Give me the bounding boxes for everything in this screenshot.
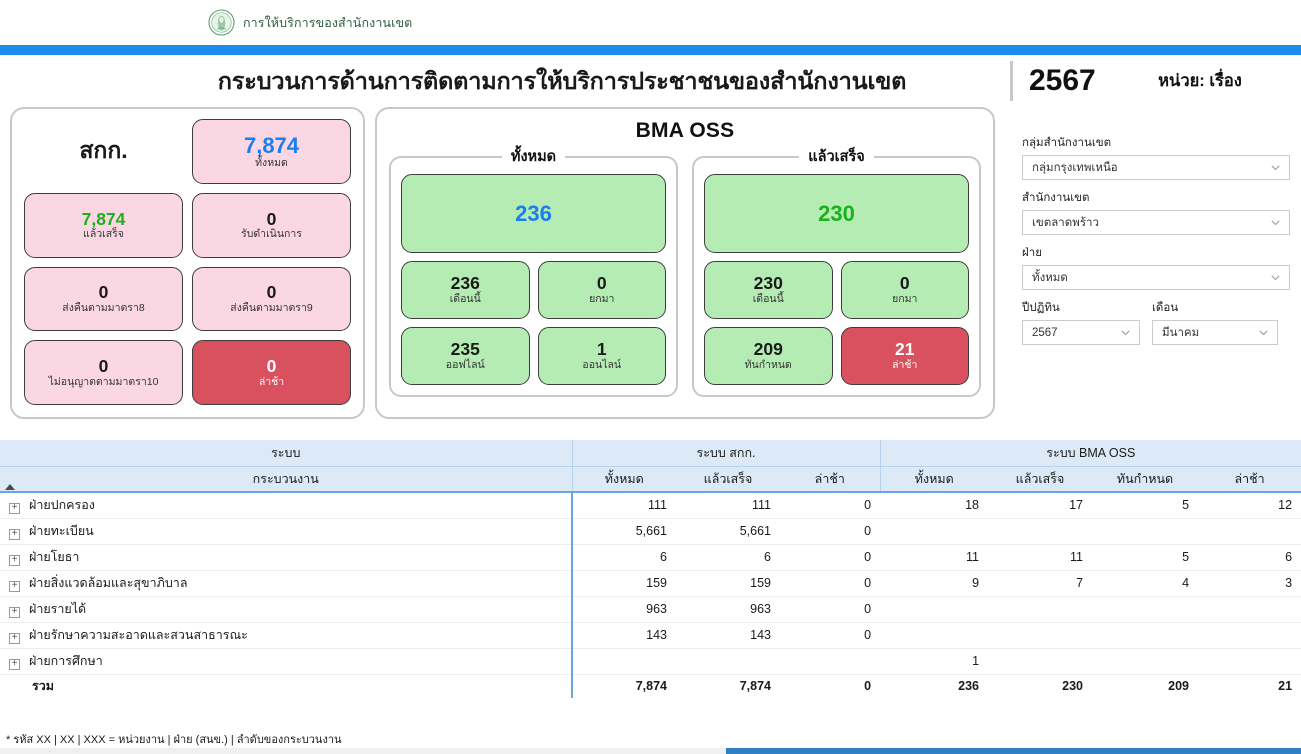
total-label: รวม: [0, 674, 572, 698]
total-bma-ontime: 209: [1092, 674, 1198, 698]
cell-bma-ontime: [1092, 518, 1198, 544]
table-row[interactable]: ฝ่ายปกครอง 111 111 0 18 17 5 12: [0, 492, 1301, 518]
title-bar: กระบวนการด้านการติดตามการให้บริการประชาช…: [0, 55, 1301, 107]
group-header-bma[interactable]: ระบบ BMA OSS: [880, 440, 1301, 466]
bma-all-online-value: 1: [597, 340, 607, 358]
col-header-process[interactable]: กระบวนงาน: [0, 466, 572, 492]
footnote: * รหัส XX | XX | XXX = หน่วยงาน | ฝ่าย (…: [6, 730, 342, 748]
skk-card-return-s9[interactable]: 0 ส่งคืนตามมาตรา9: [192, 267, 351, 332]
row-label: ฝ่ายทะเบียน: [29, 524, 94, 538]
cell-bma-total: 9: [880, 570, 988, 596]
bma-done-total-value: 230: [818, 202, 855, 225]
page-title: กระบวนการด้านการติดตามการให้บริการประชาช…: [0, 63, 1004, 100]
cell-bma-late: [1198, 518, 1301, 544]
bma-all-carryover-caption: ยกมา: [589, 294, 614, 306]
col-header-skk-total[interactable]: ทั้งหมด: [572, 466, 676, 492]
col-header-bma-late[interactable]: ล่าช้า: [1198, 466, 1301, 492]
cell-skk-late: 0: [780, 544, 880, 570]
table-row[interactable]: ฝ่ายการศึกษา 1: [0, 648, 1301, 674]
cell-skk-total: 159: [572, 570, 676, 596]
skk-late-caption: ล่าช้า: [259, 377, 284, 389]
skk-card-late[interactable]: 0 ล่าช้า: [192, 340, 351, 405]
filter-year-group: ปีปฏิทิน 2567: [1022, 299, 1140, 345]
cell-skk-done: [676, 648, 780, 674]
cell-bma-ontime: [1092, 596, 1198, 622]
bma-group-done-legend: แล้วเสร็จ: [799, 145, 873, 168]
row-label-cell[interactable]: ฝ่ายรายได้: [0, 596, 572, 622]
skk-return-s9-caption: ส่งคืนตามมาตรา9: [230, 303, 312, 315]
plus-box-icon[interactable]: [9, 529, 20, 540]
cell-bma-late: 6: [1198, 544, 1301, 570]
skk-panel: สกก. 7,874 ทั้งหมด 7,874 แล้วเสร็จ 0 รับ…: [10, 107, 365, 419]
bma-all-thismonth-caption: เดือนนี้: [450, 294, 481, 306]
row-label-cell[interactable]: ฝ่ายปกครอง: [0, 492, 572, 518]
bma-done-total[interactable]: 230: [704, 174, 969, 253]
total-skk-total: 7,874: [572, 674, 676, 698]
plus-box-icon[interactable]: [9, 659, 20, 670]
cell-bma-done: [988, 596, 1092, 622]
process-table: ระบบ ระบบ สกก. ระบบ BMA OSS กระบวนงาน ทั…: [0, 440, 1301, 698]
cell-skk-done: 5,661: [676, 518, 780, 544]
cell-skk-total: 5,661: [572, 518, 676, 544]
bma-done-ontime-value: 209: [754, 340, 783, 358]
chevron-down-icon: [1120, 327, 1131, 338]
row-label-cell[interactable]: ฝ่ายทะเบียน: [0, 518, 572, 544]
bma-done-carryover-value: 0: [900, 274, 910, 292]
bma-all-thismonth[interactable]: 236 เดือนนี้: [401, 261, 530, 319]
total-bma-late: 21: [1198, 674, 1301, 698]
filter-division-group: ฝ่าย ทั้งหมด: [1022, 244, 1290, 290]
filter-month-group: เดือน มีนาคม: [1152, 299, 1278, 345]
col-header-bma-done[interactable]: แล้วเสร็จ: [988, 466, 1092, 492]
filter-district-group-value: กลุ่มกรุงเทพเหนือ: [1032, 159, 1118, 177]
filter-district-office-value: เขตลาดพร้าว: [1032, 214, 1099, 232]
bma-done-late[interactable]: 21 ล่าช้า: [841, 327, 970, 385]
skk-card-inprogress[interactable]: 0 รับดำเนินการ: [192, 193, 351, 258]
bma-all-offline-value: 235: [451, 340, 480, 358]
cell-skk-done: 143: [676, 622, 780, 648]
chevron-down-icon: [1270, 217, 1281, 228]
cell-skk-late: 0: [780, 492, 880, 518]
cell-skk-total: 6: [572, 544, 676, 570]
cell-bma-done: [988, 518, 1092, 544]
chevron-down-icon: [1270, 272, 1281, 283]
title-divider: [1010, 61, 1013, 101]
cell-bma-ontime: [1092, 622, 1198, 648]
plus-box-icon[interactable]: [9, 633, 20, 644]
total-bma-done: 230: [988, 674, 1092, 698]
cell-bma-done: [988, 648, 1092, 674]
bma-all-total-value: 236: [515, 202, 552, 225]
row-label: ฝ่ายรักษาความสะอาดและสวนสาธารณะ: [29, 628, 248, 642]
scrollbar-thumb[interactable]: [726, 748, 1301, 754]
bma-group-done: แล้วเสร็จ 230 230 เดือนนี้ 0 ยกมา: [692, 145, 981, 397]
cell-bma-total: 18: [880, 492, 988, 518]
table-row[interactable]: ฝ่ายทะเบียน 5,661 5,661 0: [0, 518, 1301, 544]
skk-card-grid: สกก. 7,874 ทั้งหมด 7,874 แล้วเสร็จ 0 รับ…: [24, 119, 351, 405]
col-header-skk-late[interactable]: ล่าช้า: [780, 466, 880, 492]
year-value: 2567: [1029, 64, 1115, 98]
cell-bma-ontime: 5: [1092, 492, 1198, 518]
bma-seal-icon: [208, 9, 235, 36]
bma-done-ontime-caption: ทันกำหนด: [745, 360, 792, 372]
skk-card-total[interactable]: 7,874 ทั้งหมด: [192, 119, 351, 184]
skk-inprogress-caption: รับดำเนินการ: [241, 229, 302, 241]
bma-group-row: ทั้งหมด 236 236 เดือนนี้ 0 ยกมา: [389, 145, 981, 397]
cell-bma-late: 3: [1198, 570, 1301, 596]
plus-box-icon[interactable]: [9, 503, 20, 514]
table-row[interactable]: ฝ่ายโยธา 6 6 0 11 11 5 6: [0, 544, 1301, 570]
cell-skk-done: 6: [676, 544, 780, 570]
cell-bma-done: [988, 622, 1092, 648]
skk-denied-s10-value: 0: [99, 357, 109, 375]
filter-division-label: ฝ่าย: [1022, 244, 1290, 262]
bma-done-thismonth-caption: เดือนนี้: [753, 294, 784, 306]
horizontal-scrollbar[interactable]: [0, 748, 1301, 754]
cell-bma-ontime: [1092, 648, 1198, 674]
cell-skk-late: [780, 648, 880, 674]
col-header-bma-total[interactable]: ทั้งหมด: [880, 466, 988, 492]
cell-skk-done: 159: [676, 570, 780, 596]
cell-bma-ontime: 5: [1092, 544, 1198, 570]
table-group-header-row: ระบบ ระบบ สกก. ระบบ BMA OSS: [0, 440, 1301, 466]
plus-box-icon[interactable]: [9, 581, 20, 592]
cell-skk-total: [572, 648, 676, 674]
cell-bma-total: [880, 622, 988, 648]
filter-month-value: มีนาคม: [1162, 324, 1199, 342]
cell-bma-total: 11: [880, 544, 988, 570]
bma-group-all: ทั้งหมด 236 236 เดือนนี้ 0 ยกมา: [389, 145, 678, 397]
bma-done-late-value: 21: [895, 340, 914, 358]
cell-bma-late: [1198, 648, 1301, 674]
skk-return-s8-caption: ส่งคืนตามมาตรา8: [62, 303, 144, 315]
cell-skk-done: 111: [676, 492, 780, 518]
dashboard-root: การให้บริการของสำนักงานเขต กระบวนการด้าน…: [0, 0, 1301, 754]
table-row[interactable]: ฝ่ายสิ่งแวดล้อมและสุขาภิบาล 159 159 0 9 …: [0, 570, 1301, 596]
filter-district-group-label: กลุ่มสำนักงานเขต: [1022, 134, 1290, 152]
cell-skk-total: 963: [572, 596, 676, 622]
skk-return-s8-value: 0: [99, 283, 109, 301]
cell-bma-total: [880, 596, 988, 622]
bma-done-grid: 230 230 เดือนนี้ 0 ยกมา 209 ทันกำหนด: [704, 174, 969, 385]
cell-bma-ontime: 4: [1092, 570, 1198, 596]
filter-district-group-select[interactable]: กลุ่มกรุงเทพเหนือ: [1022, 155, 1290, 180]
cell-skk-total: 143: [572, 622, 676, 648]
filter-date-row: ปีปฏิทิน 2567 เดือน มีนาคม: [1022, 299, 1290, 345]
skk-denied-s10-caption: ไม่อนุญาตตามมาตรา10: [49, 377, 159, 389]
skk-done-caption: แล้วเสร็จ: [83, 229, 124, 241]
row-label-cell[interactable]: ฝ่ายโยธา: [0, 544, 572, 570]
bma-all-grid: 236 236 เดือนนี้ 0 ยกมา 235 ออฟไลน์: [401, 174, 666, 385]
row-label: ฝ่ายสิ่งแวดล้อมและสุขาภิบาล: [29, 576, 187, 590]
bma-done-late-caption: ล่าช้า: [892, 360, 917, 372]
unit-label: หน่วย: เรื่อง: [1115, 68, 1285, 94]
bma-all-online-caption: ออนไลน์: [582, 360, 621, 372]
bma-all-thismonth-value: 236: [451, 274, 480, 292]
bma-done-thismonth[interactable]: 230 เดือนนี้: [704, 261, 833, 319]
total-skk-done: 7,874: [676, 674, 780, 698]
table-total-row: รวม 7,874 7,874 0 236 230 209 21: [0, 674, 1301, 698]
skk-card-denied-s10[interactable]: 0 ไม่อนุญาตตามมาตรา10: [24, 340, 183, 405]
filter-district-office-label: สำนักงานเขต: [1022, 189, 1290, 207]
skk-inprogress-value: 0: [267, 210, 277, 228]
skk-return-s9-value: 0: [267, 283, 277, 301]
skk-done-value: 7,874: [82, 210, 126, 228]
skk-total-caption: ทั้งหมด: [255, 158, 288, 170]
bma-all-total[interactable]: 236: [401, 174, 666, 253]
filter-month-select[interactable]: มีนาคม: [1152, 320, 1278, 345]
bma-all-carryover-value: 0: [597, 274, 607, 292]
skk-total-value: 7,874: [244, 134, 299, 157]
filter-panel: กลุ่มสำนักงานเขต กลุ่มกรุงเทพเหนือ สำนัก…: [1022, 134, 1290, 345]
plus-box-icon[interactable]: [9, 555, 20, 566]
table-body: ฝ่ายปกครอง 111 111 0 18 17 5 12 ฝ่ายทะเบ…: [0, 492, 1301, 698]
chevron-down-icon: [1270, 162, 1281, 173]
col-header-skk-done[interactable]: แล้วเสร็จ: [676, 466, 780, 492]
row-label: ฝ่ายรายได้: [29, 602, 86, 616]
cell-skk-done: 963: [676, 596, 780, 622]
filter-district-office-group: สำนักงานเขต เขตลาดพร้าว: [1022, 189, 1290, 235]
filter-district-office-select[interactable]: เขตลาดพร้าว: [1022, 210, 1290, 235]
cell-bma-late: 12: [1198, 492, 1301, 518]
col-header-bma-ontime[interactable]: ทันกำหนด: [1092, 466, 1198, 492]
filter-district-group: กลุ่มสำนักงานเขต กลุ่มกรุงเทพเหนือ: [1022, 134, 1290, 180]
bma-oss-panel: BMA OSS ทั้งหมด 236 236 เดือนนี้ 0: [375, 107, 995, 419]
bma-all-carryover[interactable]: 0 ยกมา: [538, 261, 667, 319]
filter-year-value: 2567: [1032, 327, 1058, 339]
bma-done-thismonth-value: 230: [754, 274, 783, 292]
brand-label: การให้บริการของสำนักงานเขต: [243, 13, 412, 33]
cell-bma-done: 11: [988, 544, 1092, 570]
accent-bar: [0, 45, 1301, 55]
cell-bma-done: 17: [988, 492, 1092, 518]
total-skk-late: 0: [780, 674, 880, 698]
cell-bma-late: [1198, 622, 1301, 648]
cell-skk-late: 0: [780, 622, 880, 648]
cell-bma-total: [880, 518, 988, 544]
bma-done-carryover-caption: ยกมา: [892, 294, 917, 306]
bma-panel-title: BMA OSS: [389, 119, 981, 143]
cell-bma-total: 1: [880, 648, 988, 674]
bma-all-offline[interactable]: 235 ออฟไลน์: [401, 327, 530, 385]
filter-division-select[interactable]: ทั้งหมด: [1022, 265, 1290, 290]
row-label-cell[interactable]: ฝ่ายรักษาความสะอาดและสวนสาธารณะ: [0, 622, 572, 648]
skk-late-value: 0: [267, 357, 277, 375]
bma-all-offline-caption: ออฟไลน์: [446, 360, 485, 372]
filter-month-label: เดือน: [1152, 299, 1278, 317]
sort-ascending-icon: [5, 484, 15, 490]
cell-skk-late: 0: [780, 518, 880, 544]
brand-bar: การให้บริการของสำนักงานเขต: [0, 0, 1301, 45]
col-header-process-label: กระบวนงาน: [253, 472, 319, 486]
total-bma-total: 236: [880, 674, 988, 698]
filter-division-value: ทั้งหมด: [1032, 269, 1068, 287]
filter-year-label: ปีปฏิทิน: [1022, 299, 1140, 317]
row-label: ฝ่ายการศึกษา: [29, 654, 103, 668]
row-label-cell[interactable]: ฝ่ายสิ่งแวดล้อมและสุขาภิบาล: [0, 570, 572, 596]
bma-done-ontime[interactable]: 209 ทันกำหนด: [704, 327, 833, 385]
bma-done-carryover[interactable]: 0 ยกมา: [841, 261, 970, 319]
plus-box-icon[interactable]: [9, 607, 20, 618]
cell-skk-late: 0: [780, 570, 880, 596]
table-column-header-row: กระบวนงาน ทั้งหมด แล้วเสร็จ ล่าช้า ทั้งห…: [0, 466, 1301, 492]
skk-panel-title: สกก.: [24, 119, 183, 184]
row-label: ฝ่ายโยธา: [29, 550, 79, 564]
skk-card-return-s8[interactable]: 0 ส่งคืนตามมาตรา8: [24, 267, 183, 332]
row-label-cell[interactable]: ฝ่ายการศึกษา: [0, 648, 572, 674]
table-row[interactable]: ฝ่ายรักษาความสะอาดและสวนสาธารณะ 143 143 …: [0, 622, 1301, 648]
cell-bma-late: [1198, 596, 1301, 622]
skk-card-done[interactable]: 7,874 แล้วเสร็จ: [24, 193, 183, 258]
cell-skk-total: 111: [572, 492, 676, 518]
row-label: ฝ่ายปกครอง: [29, 498, 95, 512]
data-table-region: ระบบ ระบบ สกก. ระบบ BMA OSS กระบวนงาน ทั…: [0, 440, 1301, 698]
bma-all-online[interactable]: 1 ออนไลน์: [538, 327, 667, 385]
group-header-skk[interactable]: ระบบ สกก.: [572, 440, 880, 466]
chevron-down-icon: [1258, 327, 1269, 338]
cell-bma-done: 7: [988, 570, 1092, 596]
cell-skk-late: 0: [780, 596, 880, 622]
filter-year-select[interactable]: 2567: [1022, 320, 1140, 345]
table-row[interactable]: ฝ่ายรายได้ 963 963 0: [0, 596, 1301, 622]
bma-group-all-legend: ทั้งหมด: [502, 145, 565, 168]
group-header-system[interactable]: ระบบ: [0, 440, 572, 466]
